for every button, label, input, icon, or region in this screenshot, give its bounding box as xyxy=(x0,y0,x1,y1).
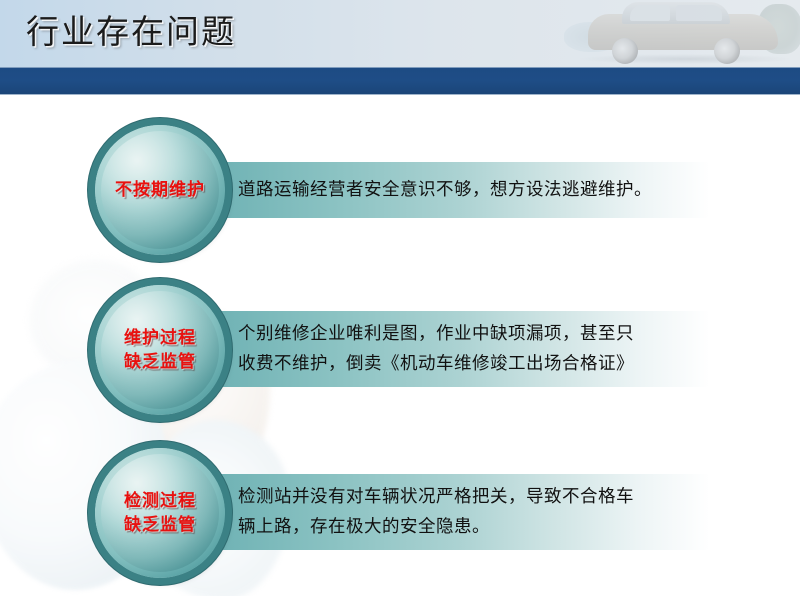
item-text-bar: 个别维修企业唯利是图，作业中缺项漏项，甚至只 收费不维护，倒卖《机动车维修竣工出… xyxy=(150,311,710,387)
item-badge-label: 不按期维护 xyxy=(115,178,205,202)
slide-header: 行业存在问题 xyxy=(0,0,800,67)
item-description: 道路运输经营者安全意识不够，想方设法逃避维护。 xyxy=(238,175,692,205)
car-photo-rear-wheel xyxy=(714,38,740,64)
item-badge-circle[interactable]: 不按期维护 xyxy=(95,125,225,255)
item-text-bar: 道路运输经营者安全意识不够，想方设法逃避维护。 xyxy=(150,162,710,218)
item-description: 个别维修企业唯利是图，作业中缺项漏项，甚至只 收费不维护，倒卖《机动车维修竣工出… xyxy=(238,319,692,379)
car-photo-front-wheel xyxy=(612,38,638,64)
item-text-bar: 检测站并没有对车辆状况严格把关，导致不合格车 辆上路，存在极大的安全隐患。 xyxy=(150,474,710,550)
list-item: 个别维修企业唯利是图，作业中缺项漏项，甚至只 收费不维护，倒卖《机动车维修竣工出… xyxy=(0,295,800,420)
slide: 行业存在问题 道路运输经营者安全意识不够，想方设法逃避维护。 不按期维护 个别维… xyxy=(0,0,800,596)
car-photo-rear-window xyxy=(676,5,722,21)
header-divider-band xyxy=(0,67,800,95)
item-badge-circle[interactable]: 检测过程 缺乏监管 xyxy=(95,448,225,578)
car-photo-front-window xyxy=(630,5,670,21)
item-badge-label: 检测过程 缺乏监管 xyxy=(124,489,196,537)
item-badge-circle[interactable]: 维护过程 缺乏监管 xyxy=(95,285,225,415)
list-item: 检测站并没有对车辆状况严格把关，导致不合格车 辆上路，存在极大的安全隐患。 检测… xyxy=(0,458,800,583)
sedan-car-photo-icon xyxy=(530,0,800,67)
item-description: 检测站并没有对车辆状况严格把关，导致不合格车 辆上路，存在极大的安全隐患。 xyxy=(238,482,692,542)
item-badge-label: 维护过程 缺乏监管 xyxy=(124,326,196,374)
content-area: 道路运输经营者安全意识不够，想方设法逃避维护。 不按期维护 个别维修企业唯利是图… xyxy=(0,95,800,596)
page-title: 行业存在问题 xyxy=(26,10,236,54)
list-item: 道路运输经营者安全意识不够，想方设法逃避维护。 不按期维护 xyxy=(0,140,800,265)
car-photo-shadow xyxy=(580,54,790,64)
